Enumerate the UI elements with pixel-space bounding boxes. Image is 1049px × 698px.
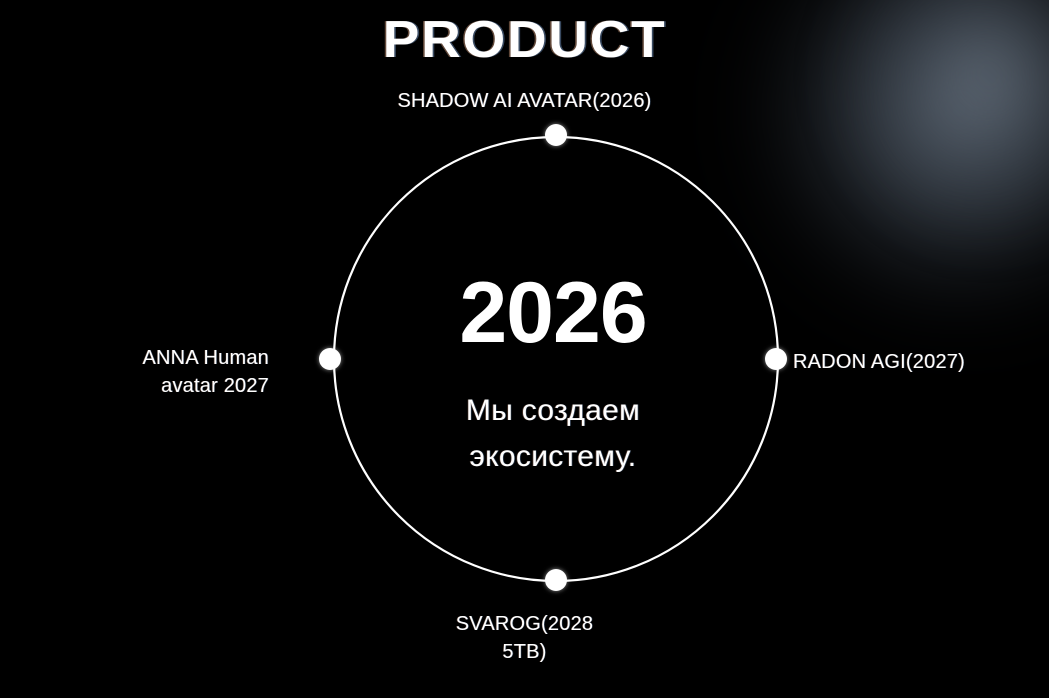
center-year: 2026 [353,270,753,356]
node-label-anna-human-avatar: ANNA Human avatar 2027 [9,344,269,401]
product-roadmap-slide: PRODUCT SHADOW AI AVATAR(2026) RADON AGI… [0,0,1049,698]
node-label-svarog: SVAROG(2028 5TB) [0,610,1049,667]
node-dot-top[interactable] [545,124,567,146]
node-label-radon-agi: RADON AGI(2027) [793,348,965,376]
center-tagline: Мы создаем экосистему. [353,388,753,479]
node-dot-bottom[interactable] [545,569,567,591]
page-title: PRODUCT [0,14,1049,66]
node-dot-left[interactable] [319,348,341,370]
node-dot-right[interactable] [765,348,787,370]
node-label-shadow-ai-avatar: SHADOW AI AVATAR(2026) [0,87,1049,115]
ring-center-content: 2026 Мы создаем экосистему. [353,270,753,479]
